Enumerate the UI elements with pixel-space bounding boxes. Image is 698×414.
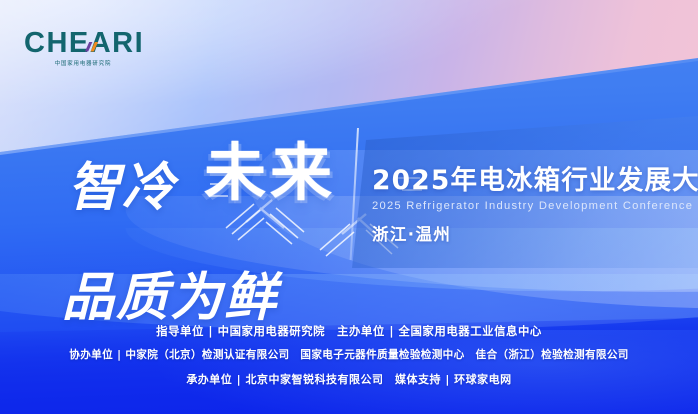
conference-banner: CHEARI 中国家用电器研究院 智冷	[0, 0, 698, 414]
credit-line-guidance-host: 指导单位 | 中国家用电器研究院 主办单位 | 全国家用电器工业信息中心	[0, 324, 698, 338]
slogan-row-1: 智冷 未来	[62, 138, 392, 200]
slogan-text-weilai: 未来	[204, 140, 336, 206]
slogan-text-pinzhiweixian: 品质为鲜	[62, 270, 278, 326]
conference-title-block: 2025年电冰箱行业发展大会 2025 Refrigerator Industr…	[372, 166, 698, 245]
slogan-row-2: 品质为鲜	[62, 200, 392, 262]
slogan-block: 智冷 未来 品质为鲜	[62, 138, 392, 270]
conference-title-chinese: 2025年电冰箱行业发展大会	[372, 166, 698, 196]
logo-subtitle: 中国家用电器研究院	[24, 59, 142, 67]
logo-wordmark: CHEARI	[24, 28, 154, 58]
organizer-credits: 指导单位 | 中国家用电器研究院 主办单位 | 全国家用电器工业信息中心 协办单…	[0, 324, 698, 387]
conference-title-english: 2025 Refrigerator Industry Development C…	[372, 200, 698, 213]
credit-line-co-organizers: 协办单位 | 中家院（北京）检测认证有限公司 国家电子元器件质量检验检测中心 佳…	[0, 349, 698, 362]
conference-location: 浙江·温州	[372, 225, 698, 245]
credit-line-undertaker-media: 承办单位 | 北京中家智锐科技有限公司 媒体支持 | 环球家电网	[0, 373, 698, 387]
cheari-logo: CHEARI 中国家用电器研究院	[24, 28, 154, 68]
